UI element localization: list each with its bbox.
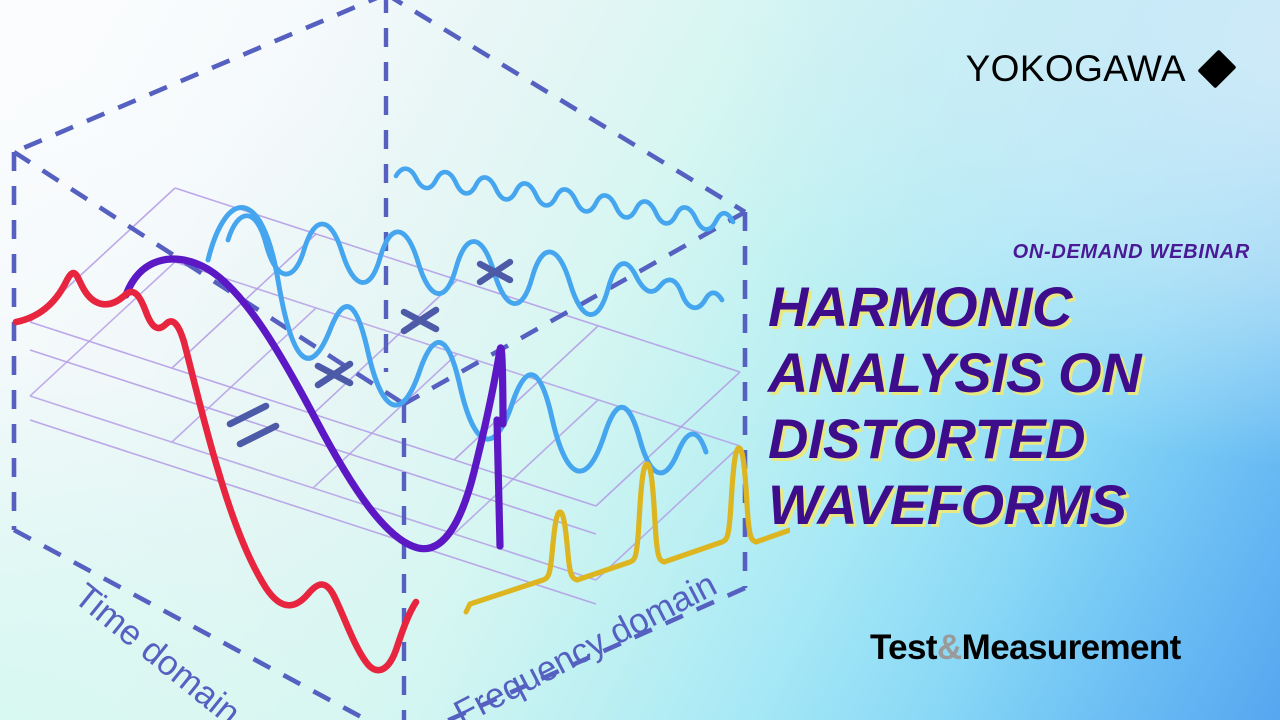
label-frequency-domain: Frequency domain [448, 565, 723, 720]
wave-fundamental [126, 259, 503, 549]
operator-plus-2 [404, 310, 436, 331]
title-line-2: ANALYSIS ON [768, 340, 1280, 406]
page-title: HARMONIC ANALYSIS ON DISTORTED WAVEFORMS [768, 274, 1280, 538]
content-column: YOKOGAWA ON-DEMAND WEBINAR HARMONIC ANAL… [752, 0, 1280, 720]
title-line-1: HARMONIC [768, 274, 1280, 340]
label-time-domain: Time domain [67, 576, 248, 720]
webinar-kicker: ON-DEMAND WEBINAR [1013, 241, 1250, 264]
title-line-3: DISTORTED [768, 406, 1280, 472]
promo-banner: Time domain Frequency domain YOKOGAWA ON… [0, 0, 1280, 720]
harmonic-decomposition-illustration: Time domain Frequency domain [0, 0, 790, 720]
brand-wordmark: YOKOGAWA [966, 50, 1186, 87]
spectrum-axis-stub [466, 604, 470, 612]
yokogawa-logo: YOKOGAWA [966, 50, 1232, 87]
operator-equals [230, 406, 276, 444]
tagline-part-1: Test [870, 628, 937, 667]
test-and-measurement-tagline: Test&Measurement [870, 628, 1181, 668]
wave-fundamental-tail [497, 420, 500, 546]
wave-harmonic-low [208, 208, 706, 473]
tagline-ampersand: & [937, 628, 962, 667]
diamond-icon [1197, 49, 1236, 88]
wave-harmonic-high [396, 169, 733, 230]
operator-plus-1 [318, 364, 350, 385]
spectrum-baseline-and-peaks [470, 448, 790, 604]
title-line-4: WAVEFORMS [768, 472, 1280, 538]
tagline-part-2: Measurement [962, 628, 1181, 667]
